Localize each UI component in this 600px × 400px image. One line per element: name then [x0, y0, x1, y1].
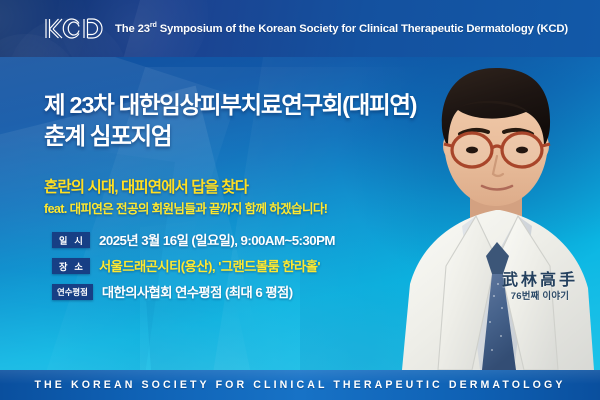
info-label-venue: 장 소	[52, 258, 90, 274]
kcd-logo-icon	[44, 16, 106, 41]
poster-content: 제 23차 대한임상피부치료연구회(대피연) 춘계 심포지엄 혼란의 시대, 대…	[0, 57, 600, 370]
page-title-line1: 제 23차 대한임상피부치료연구회(대피연)	[44, 92, 416, 118]
header-title-post: Symposium of the Korean Society for Clin…	[157, 23, 568, 35]
series-signature-title: 武林高手	[502, 271, 578, 289]
symposium-poster: The 23rd Symposium of the Korean Society…	[0, 0, 600, 400]
event-info-list: 일 시 2025년 3월 16일 (일요일), 9:00AM~5:30PM 장 …	[52, 230, 335, 301]
header-title: The 23rd Symposium of the Korean Society…	[115, 21, 568, 35]
series-signature-subtitle: 76번째 이야기	[502, 292, 578, 302]
info-label-credits: 연수평점	[52, 284, 93, 300]
series-signature: 武林高手 76번째 이야기	[502, 271, 578, 302]
header-title-pre: The 23	[115, 23, 150, 35]
page-title-line2: 춘계 심포지엄	[44, 121, 444, 152]
info-row-date: 일 시 2025년 3월 16일 (일요일), 9:00AM~5:30PM	[52, 230, 335, 249]
header-content: The 23rd Symposium of the Korean Society…	[44, 0, 568, 57]
header-title-ordinal: rd	[150, 20, 157, 29]
info-value-date: 2025년 3월 16일 (일요일), 9:00AM~5:30PM	[99, 230, 335, 249]
footer-text: THE KOREAN SOCIETY FOR CLINICAL THERAPEU…	[34, 379, 565, 391]
header-bar: The 23rd Symposium of the Korean Society…	[0, 0, 600, 57]
page-title: 제 23차 대한임상피부치료연구회(대피연) 춘계 심포지엄	[44, 90, 444, 151]
info-row-credits: 연수평점 대한의사협회 연수평점 (최대 6 평점)	[52, 282, 335, 301]
feat-line: feat. 대피연은 전공의 회원님들과 끝까지 함께 하겠습니다!	[44, 198, 327, 217]
info-value-credits: 대한의사협회 연수평점 (최대 6 평점)	[102, 282, 293, 301]
info-value-venue: 서울드래곤시티(용산), '그랜드볼룸 한라홀'	[99, 256, 320, 275]
info-label-date: 일 시	[52, 232, 90, 248]
info-row-venue: 장 소 서울드래곤시티(용산), '그랜드볼룸 한라홀'	[52, 256, 335, 275]
subtitle: 혼란의 시대, 대피연에서 답을 찾다	[44, 175, 248, 197]
footer-banner: THE KOREAN SOCIETY FOR CLINICAL THERAPEU…	[0, 370, 600, 400]
